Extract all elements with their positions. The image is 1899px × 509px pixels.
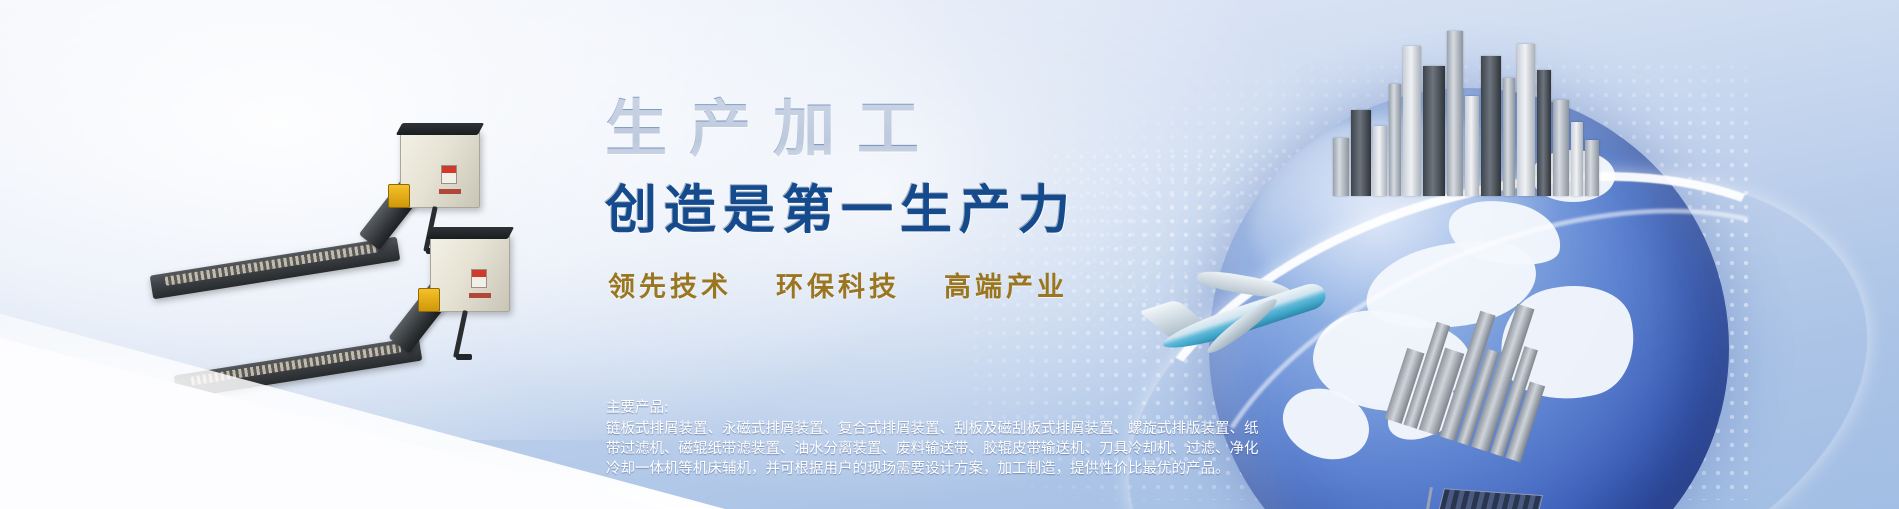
description-lead: 主要产品: [606,398,1266,418]
banner-title: 生产加工 [605,78,941,168]
conveyor-graphic-group [150,120,570,380]
banner-headline: 创造是第一生产力 [605,168,1077,243]
subline-item-3: 高端产业 [944,272,1068,303]
globe-graphic-group [1209,88,1769,509]
product-description: 主要产品: 链板式排屑装置、永磁式排屑装置、复合式排屑装置、刮板及磁刮板式排屑装… [606,398,1266,479]
hero-banner: 生产加工 创造是第一生产力 领先技术环保科技高端产业 主要产品: 链板式排屑装置… [0,0,1899,509]
subline-item-1: 领先技术 [608,272,732,303]
banner-subline: 领先技术环保科技高端产业 [608,265,1068,304]
city-skyline-icon [1327,6,1627,196]
description-body: 链板式排屑装置、永磁式排屑装置、复合式排屑装置、刮板及磁刮板式排屑装置、螺旋式排… [606,419,1266,479]
satellite-icon [1319,483,1549,509]
subline-item-2: 环保科技 [776,272,900,303]
